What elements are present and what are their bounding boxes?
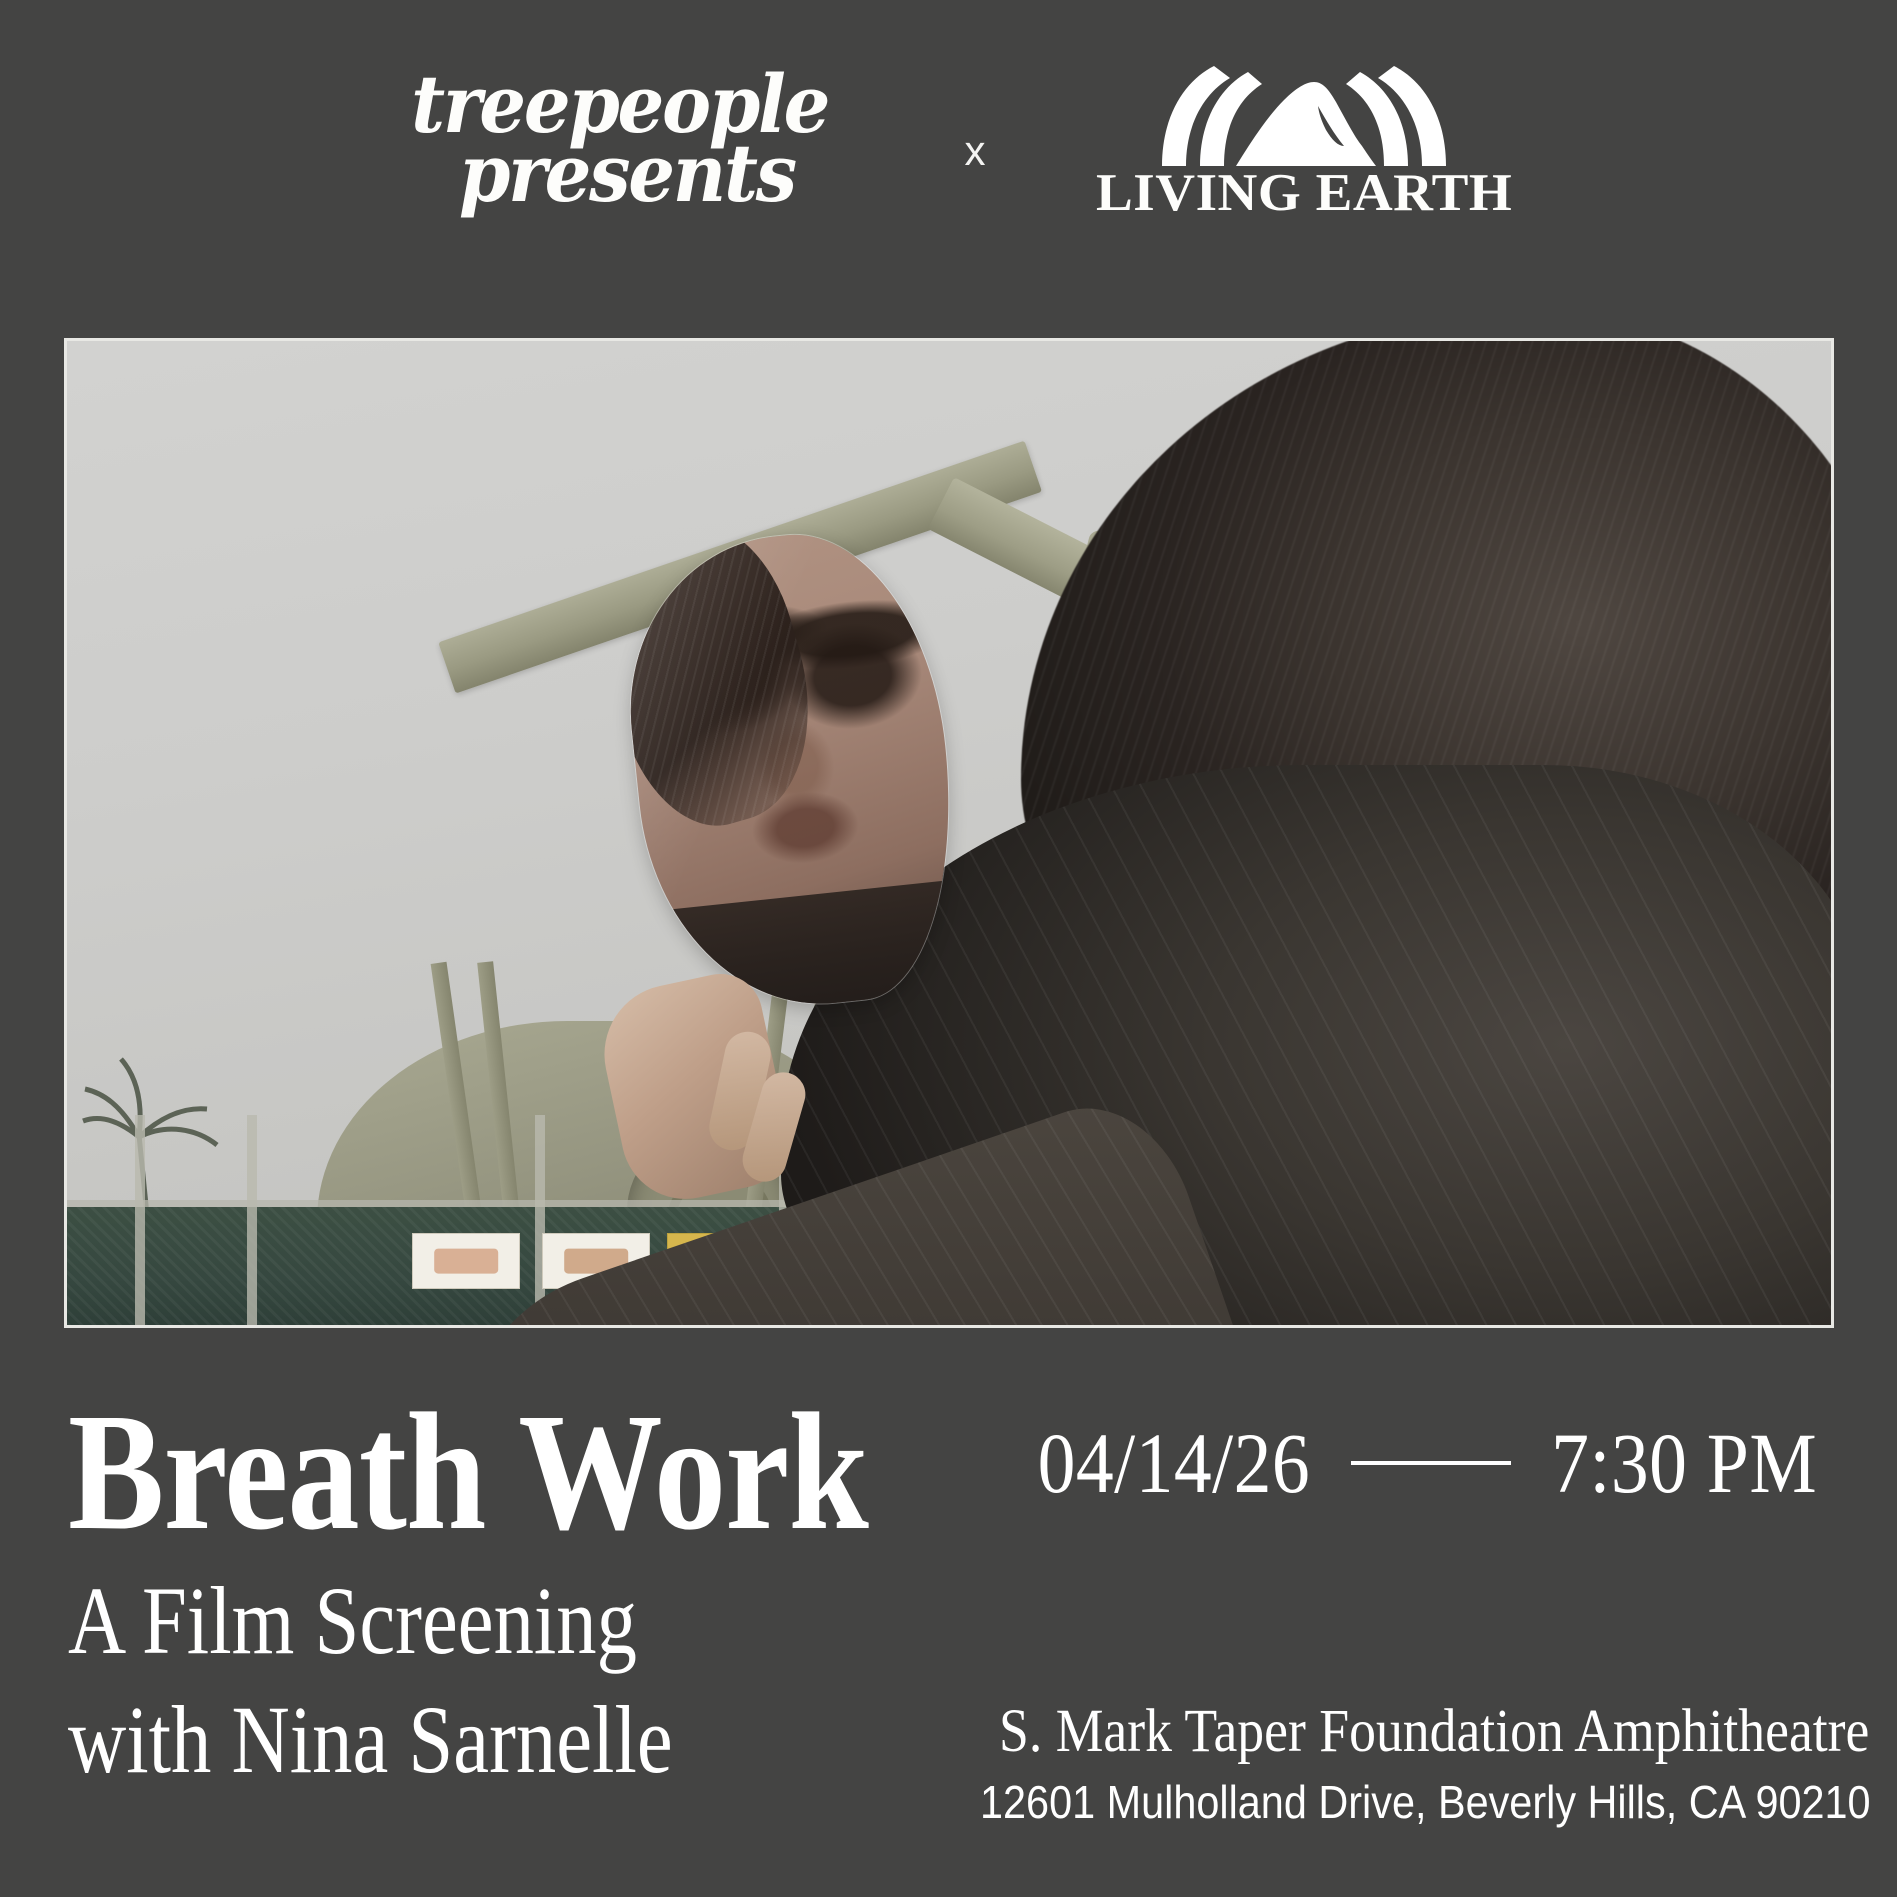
poster-footer: Breath Work A Film Screening with Nina S… [0,1328,1897,1897]
treepeople-presents-logo[interactable]: treepeople presents [393,70,846,208]
event-time: 7:30 PM [1551,1420,1817,1506]
venue-name: S. Mark Taper Foundation Amphitheatre [999,1700,1835,1765]
event-photo [64,338,1834,1328]
poster-header: treepeople presents x LIVING EARTH [0,0,1897,290]
fence-post-2 [535,1115,545,1325]
date-time-line: 04/14/26 7:30 PM [885,1420,1835,1506]
date-time-divider [1351,1461,1511,1465]
fence-post-1 [247,1115,257,1325]
venue-address: 12601 Mulholland Drive, Beverly Hills, C… [980,1777,1835,1828]
collaboration-x-icon: x [965,127,986,175]
event-subtitle-line-2: with Nina Sarnelle [68,1690,908,1791]
event-subtitle-line-1: A Film Screening [68,1571,908,1672]
event-date: 04/14/26 [1038,1420,1311,1506]
living-earth-mountain-arcs-icon [1156,62,1452,166]
mirror-shard [613,521,970,1021]
venue-block: S. Mark Taper Foundation Amphitheatre 12… [885,1700,1835,1827]
living-earth-logo[interactable]: LIVING EARTH [1104,62,1504,220]
photo-illustration [67,341,1831,1325]
page-title: Breath Work [68,1392,928,1553]
fence-post-0 [135,1115,145,1325]
palm-tree-icon [77,1045,237,1225]
living-earth-wordmark: LIVING EARTH [1096,167,1512,220]
event-poster: treepeople presents x LIVING EARTH [0,0,1897,1897]
treepeople-logo-line-2: presents [459,139,795,208]
warning-sign-1 [412,1233,520,1289]
details-block: 04/14/26 7:30 PM S. Mark Taper Foundatio… [885,1328,1835,1506]
